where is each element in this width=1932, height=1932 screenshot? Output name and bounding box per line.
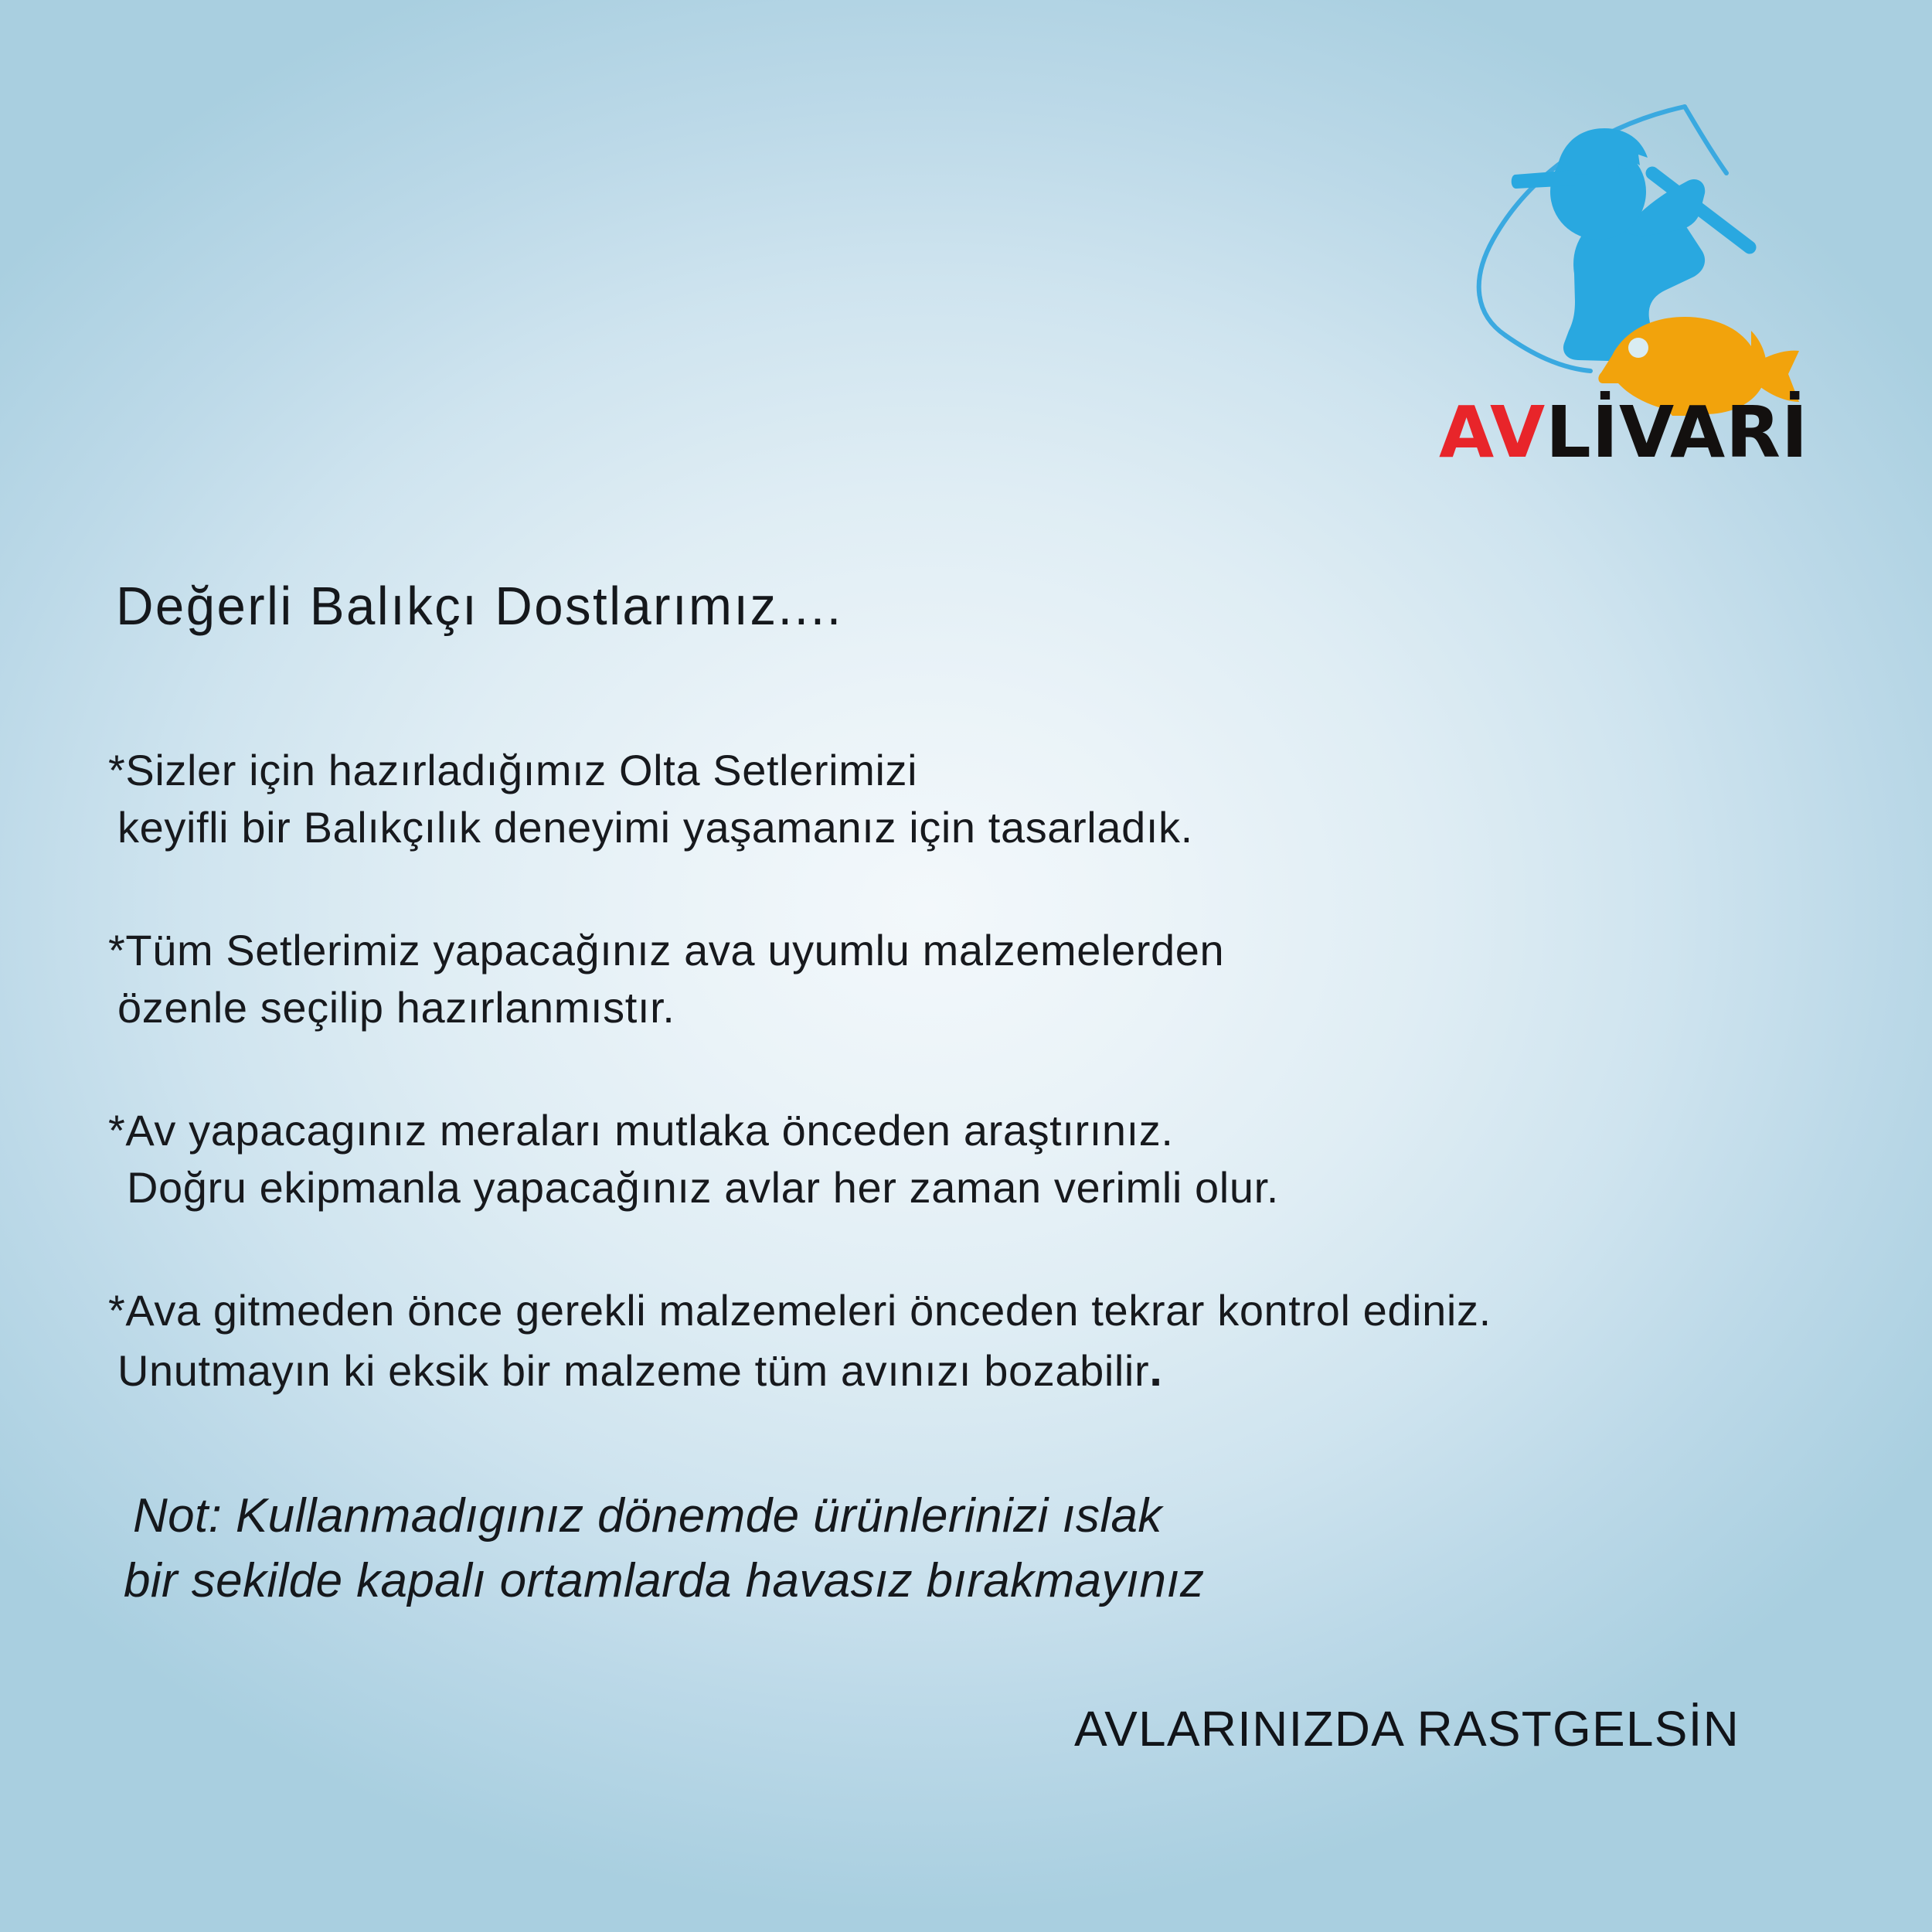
brand-wordmark-livari: LİVARİ (1546, 391, 1808, 474)
paragraph-line: *Sizler için hazırladığımız Olta Setleri… (108, 742, 1932, 799)
brand-logo: AVLİVARİ (1439, 99, 1802, 501)
paragraph-line: Doğru ekipmanla yapacağınız avlar her za… (127, 1159, 1932, 1216)
paragraph-line: özenle seçilip hazırlanmıstır. (117, 979, 1932, 1036)
paragraph-line: *Tüm Setlerimiz yapacağınız ava uyumlu m… (108, 922, 1932, 979)
paragraph-line: Unutmayın ki eksik bir malzeme tüm avını… (117, 1339, 1932, 1401)
storage-note-line: bir sekilde kapalı ortamlarda havasız bı… (124, 1549, 1932, 1614)
fisherman-with-rod-and-fish-icon (1439, 99, 1802, 416)
paragraph-kontrol: *Ava gitmeden önce gerekli malzemeleri ö… (0, 1282, 1932, 1401)
storage-note-line: Not: Kullanmadıgınız dönemde ürünleriniz… (133, 1484, 1932, 1549)
paragraph-olta-setleri: *Sizler için hazırladığımız Olta Setleri… (0, 742, 1932, 857)
brand-wordmark-av: AV (1439, 391, 1546, 474)
paragraph-meralar: *Av yapacagınız meraları mutlaka önceden… (0, 1102, 1932, 1217)
brand-wordmark: AVLİVARİ (1439, 397, 1802, 490)
paragraph-final-period: . (1149, 1344, 1162, 1396)
paragraph-malzemeler: *Tüm Setlerimiz yapacağınız ava uyumlu m… (0, 922, 1932, 1037)
body-copy: *Sizler için hazırladığımız Olta Setleri… (0, 742, 1932, 1466)
paragraph-line-text: Unutmayın ki eksik bir malzeme tüm avını… (117, 1346, 1149, 1395)
page-title: Değerli Balıkçı Dostlarımız.... (116, 575, 843, 637)
paragraph-line: *Av yapacagınız meraları mutlaka önceden… (108, 1102, 1932, 1159)
paragraph-line: *Ava gitmeden önce gerekli malzemeleri ö… (108, 1282, 1932, 1339)
paragraph-line: keyifli bir Balıkçılık deneyimi yaşamanı… (117, 799, 1932, 856)
footer-slogan: AVLARINIZDA RASTGELSİN (1074, 1700, 1740, 1757)
storage-note: Not: Kullanmadıgınız dönemde ürünleriniz… (0, 1484, 1932, 1613)
poster-canvas: AVLİVARİ Değerli Balıkçı Dostlarımız....… (0, 0, 1932, 1932)
